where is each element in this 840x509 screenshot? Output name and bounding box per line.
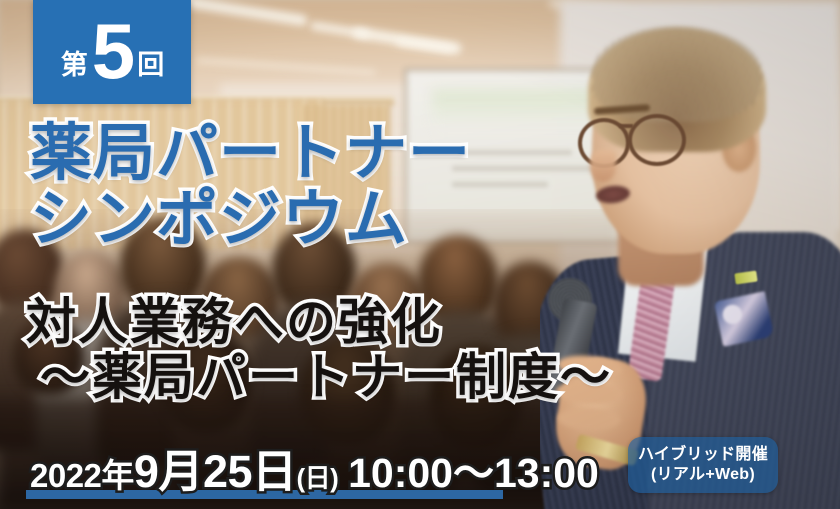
edition-suffix: 回 — [137, 26, 163, 79]
edition-badge: 第 5 回 — [33, 0, 191, 104]
edition-prefix: 第 — [61, 26, 87, 79]
subtitle-line-1: 対人業務への強化 — [26, 296, 666, 349]
event-title: 薬局パートナー シンポジウム — [30, 124, 590, 249]
date-time: 10:00〜13:00 — [348, 450, 599, 496]
date-weekday: (日) — [297, 463, 339, 493]
date-month: 9月 — [134, 446, 203, 497]
event-subtitle: 対人業務への強化 〜薬局パートナー制度〜 — [26, 296, 666, 404]
title-line-1: 薬局パートナー — [30, 124, 590, 184]
date-year: 2022年 — [30, 457, 134, 494]
title-line-2: シンポジウム — [30, 190, 590, 250]
hybrid-badge-line-2: (リアル+Web) — [651, 465, 755, 485]
speaker-photo — [540, 0, 840, 509]
hybrid-badge-line-1: ハイブリッド開催 — [638, 445, 768, 465]
edition-number: 5 — [89, 18, 135, 85]
date-day: 25日 — [203, 446, 297, 497]
event-datetime: 2022年9月25日(日) 10:00〜13:00 — [30, 449, 599, 494]
eyeglasses-bridge — [619, 124, 633, 128]
eyeglasses-right-lens — [628, 114, 686, 166]
nose — [590, 150, 616, 182]
hybrid-format-badge: ハイブリッド開催 (リアル+Web) — [628, 437, 778, 493]
event-date-block: 2022年9月25日(日) 10:00〜13:00 — [30, 449, 599, 494]
event-poster: 第 5 回 薬局パートナー シンポジウム 対人業務への強化 〜薬局パートナー制度… — [0, 0, 840, 509]
subtitle-line-2: 〜薬局パートナー制度〜 — [26, 351, 666, 404]
